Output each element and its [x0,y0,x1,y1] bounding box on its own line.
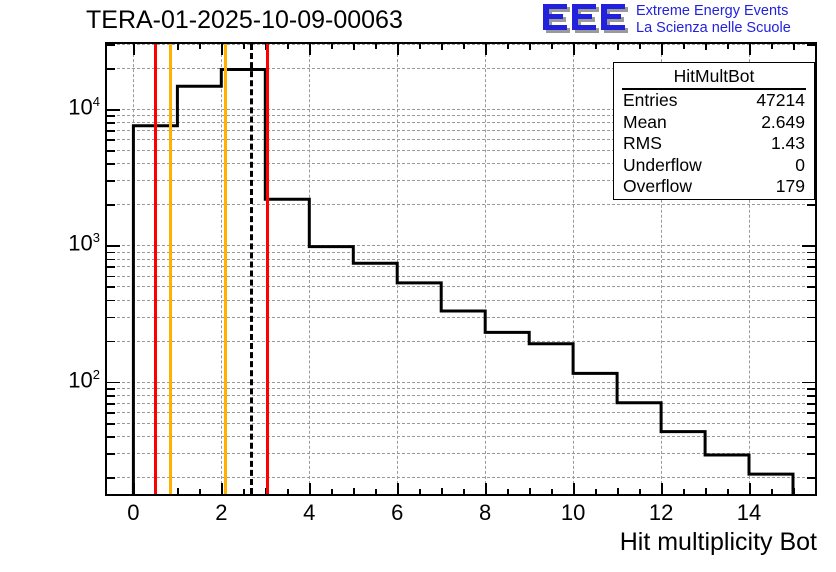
stats-row: Entries47214 [614,90,814,112]
eee-logo-mark [540,3,632,37]
stats-row: Overflow179 [614,176,814,198]
eee-logo-line1: Extreme Energy Events [636,3,791,20]
marker-left-orange [169,44,172,494]
stats-key: RMS [623,133,662,155]
stats-key: Underflow [623,155,702,177]
marker-mid-orange [224,44,227,494]
x-tick-label: 8 [479,500,491,526]
stats-rows: Entries47214Mean2.649RMS1.43Underflow0Ov… [614,90,814,198]
x-tick-label: 0 [127,500,139,526]
stats-value: 1.43 [771,133,805,155]
stats-value: 0 [795,155,805,177]
stats-key: Mean [623,112,667,134]
eee-logo-line2: La Scienza nelle Scuole [636,20,791,37]
x-tick-label: 12 [649,500,673,526]
eee-logo-text: Extreme Energy Events La Scienza nelle S… [636,3,791,37]
stats-key: Entries [623,90,677,112]
stats-row: Underflow0 [614,155,814,177]
y-tick-label: 103 [40,230,100,256]
page-title: TERA-01-2025-10-09-00063 [86,6,403,35]
marker-left-red [154,44,157,494]
x-tick-label: 4 [303,500,315,526]
stats-title: HitMultBot [622,65,806,90]
x-axis-title: Hit multiplicity Bot [620,528,817,557]
stats-row: RMS1.43 [614,133,814,155]
marker-mean-dashed [250,44,253,494]
y-tick-label: 104 [40,94,100,120]
stats-key: Overflow [623,176,692,198]
root-canvas: TERA-01-2025-10-09-00063 [0,0,836,572]
x-tick-label: 14 [737,500,761,526]
stats-value: 2.649 [761,112,805,134]
x-tick-label: 6 [391,500,403,526]
x-tick-label: 2 [215,500,227,526]
y-tick-label: 102 [40,367,100,393]
stats-box: HitMultBot Entries47214Mean2.649RMS1.43U… [613,62,815,200]
stats-value: 47214 [756,90,805,112]
x-tick-label: 10 [561,500,585,526]
stats-row: Mean2.649 [614,112,814,134]
eee-logo: Extreme Energy Events La Scienza nelle S… [540,2,830,40]
marker-right-red [266,44,269,494]
stats-value: 179 [776,176,805,198]
